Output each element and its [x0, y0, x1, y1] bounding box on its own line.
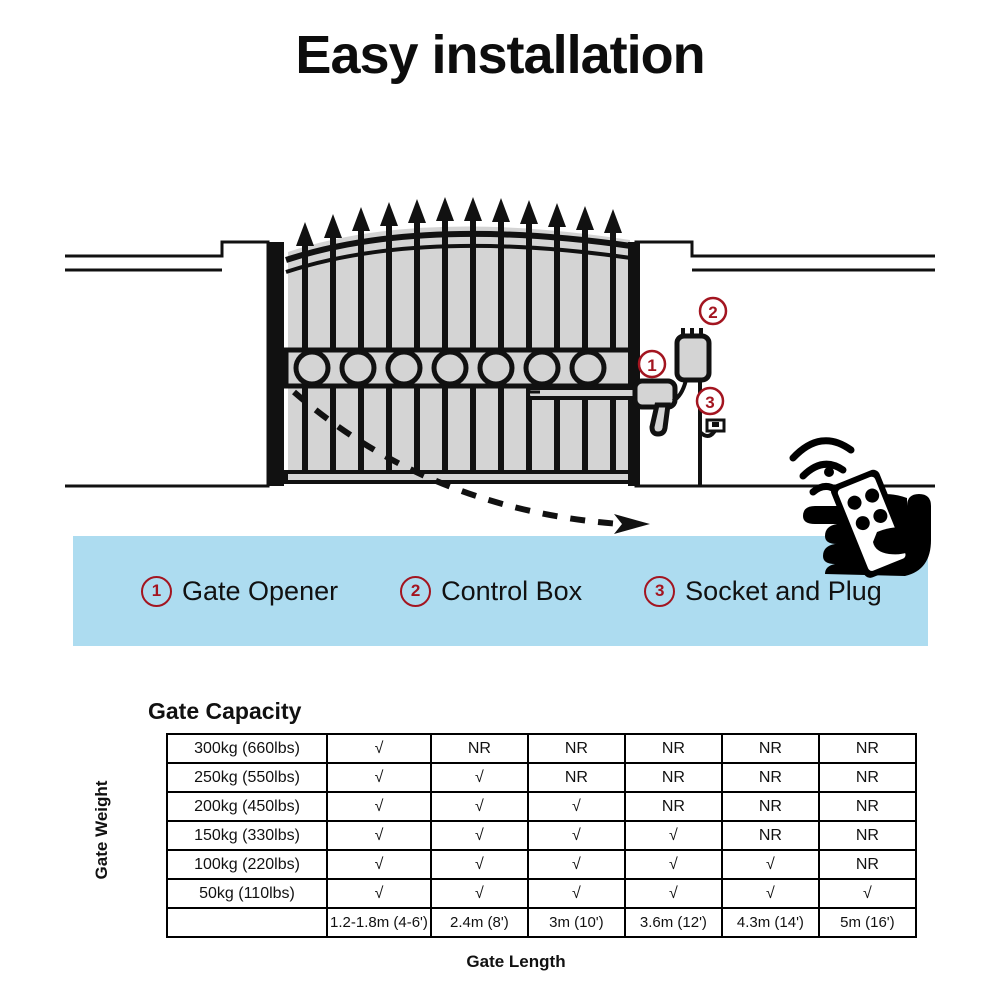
cell-r5-c3: √: [625, 879, 722, 908]
cell-r5-c4: √: [722, 879, 819, 908]
column-label-1: 2.4m (8'): [431, 908, 528, 937]
svg-text:3: 3: [705, 393, 714, 412]
legend-number-3: 3: [644, 576, 675, 607]
cell-r2-c3: NR: [625, 792, 722, 821]
cell-r2-c1: √: [431, 792, 528, 821]
legend-label-socket-and-plug: Socket and Plug: [685, 576, 882, 607]
cell-r4-c0: √: [327, 850, 431, 879]
legend-number-2: 2: [400, 576, 431, 607]
remote-control-icon: [785, 420, 945, 580]
column-label-4: 4.3m (14'): [722, 908, 819, 937]
left-wall-icon: [65, 242, 268, 486]
cell-r3-c3: √: [625, 821, 722, 850]
cell-r3-c5: NR: [819, 821, 916, 850]
capacity-table-wrapper: 300kg (660lbs)√NRNRNRNRNR250kg (550lbs)√…: [166, 733, 917, 938]
table-row: 200kg (450lbs)√√√NRNRNR: [167, 792, 916, 821]
cell-r5-c0: √: [327, 879, 431, 908]
column-label-0: 1.2-1.8m (4-6'): [327, 908, 431, 937]
cell-r0-c2: NR: [528, 734, 625, 763]
legend-item-control-box: 2 Control Box: [400, 576, 582, 607]
control-box-icon: [677, 328, 709, 380]
cell-r5-c5: √: [819, 879, 916, 908]
gate-capacity-table: 300kg (660lbs)√NRNRNRNRNR250kg (550lbs)√…: [166, 733, 917, 938]
cell-r1-c3: NR: [625, 763, 722, 792]
cell-r4-c3: √: [625, 850, 722, 879]
cell-r2-c5: NR: [819, 792, 916, 821]
cell-r1-c5: NR: [819, 763, 916, 792]
svg-text:1: 1: [647, 356, 656, 375]
legend-label-gate-opener: Gate Opener: [182, 576, 338, 607]
left-gate-post: [268, 242, 284, 486]
y-axis-label-text: Gate Weight: [92, 740, 112, 920]
legend-number-1: 1: [141, 576, 172, 607]
page-title: Easy installation: [0, 24, 1000, 86]
column-label-3: 3.6m (12'): [625, 908, 722, 937]
cell-r1-c2: NR: [528, 763, 625, 792]
table-row: 150kg (330lbs)√√√√NRNR: [167, 821, 916, 850]
callout-marker-3: 3: [697, 388, 723, 414]
x-axis-label: Gate Length: [166, 952, 866, 972]
callout-marker-2: 2: [700, 298, 726, 324]
cell-r4-c4: √: [722, 850, 819, 879]
capacity-table-body: 300kg (660lbs)√NRNRNRNRNR250kg (550lbs)√…: [167, 734, 916, 937]
cell-r3-c1: √: [431, 821, 528, 850]
cell-r2-c0: √: [327, 792, 431, 821]
cell-r5-c1: √: [431, 879, 528, 908]
row-label-3: 150kg (330lbs): [167, 821, 327, 850]
cell-r4-c1: √: [431, 850, 528, 879]
cell-r3-c0: √: [327, 821, 431, 850]
row-label-1: 250kg (550lbs): [167, 763, 327, 792]
svg-text:2: 2: [708, 303, 717, 322]
cell-r3-c4: NR: [722, 821, 819, 850]
legend-item-socket-and-plug: 3 Socket and Plug: [644, 576, 882, 607]
gate-capacity-heading: Gate Capacity: [148, 698, 301, 725]
cell-r4-c5: NR: [819, 850, 916, 879]
corner-cell: [167, 908, 327, 937]
table-row: 250kg (550lbs)√√NRNRNRNR: [167, 763, 916, 792]
legend-item-gate-opener: 1 Gate Opener: [141, 576, 338, 607]
cell-r2-c2: √: [528, 792, 625, 821]
cell-r4-c2: √: [528, 850, 625, 879]
cell-r1-c1: √: [431, 763, 528, 792]
cell-r0-c1: NR: [431, 734, 528, 763]
cell-r1-c4: NR: [722, 763, 819, 792]
wrought-iron-gate-icon: [286, 197, 632, 482]
row-label-2: 200kg (450lbs): [167, 792, 327, 821]
table-row: 50kg (110lbs)√√√√√√: [167, 879, 916, 908]
cell-r0-c5: NR: [819, 734, 916, 763]
y-axis-label: Gate Weight: [92, 560, 112, 740]
cell-r1-c0: √: [327, 763, 431, 792]
legend-label-control-box: Control Box: [441, 576, 582, 607]
wall-socket-icon: [707, 420, 724, 431]
column-label-2: 3m (10'): [528, 908, 625, 937]
row-label-4: 100kg (220lbs): [167, 850, 327, 879]
cell-r5-c2: √: [528, 879, 625, 908]
row-label-0: 300kg (660lbs): [167, 734, 327, 763]
cell-r0-c0: √: [327, 734, 431, 763]
row-label-5: 50kg (110lbs): [167, 879, 327, 908]
cell-r0-c3: NR: [625, 734, 722, 763]
callout-marker-1: 1: [639, 351, 665, 377]
table-row: 100kg (220lbs)√√√√√NR: [167, 850, 916, 879]
column-label-5: 5m (16'): [819, 908, 916, 937]
table-column-header-row: 1.2-1.8m (4-6')2.4m (8')3m (10')3.6m (12…: [167, 908, 916, 937]
infographic-page: Easy installation: [0, 0, 1000, 1000]
cell-r0-c4: NR: [722, 734, 819, 763]
cell-r2-c4: NR: [722, 792, 819, 821]
table-row: 300kg (660lbs)√NRNRNRNRNR: [167, 734, 916, 763]
cell-r3-c2: √: [528, 821, 625, 850]
